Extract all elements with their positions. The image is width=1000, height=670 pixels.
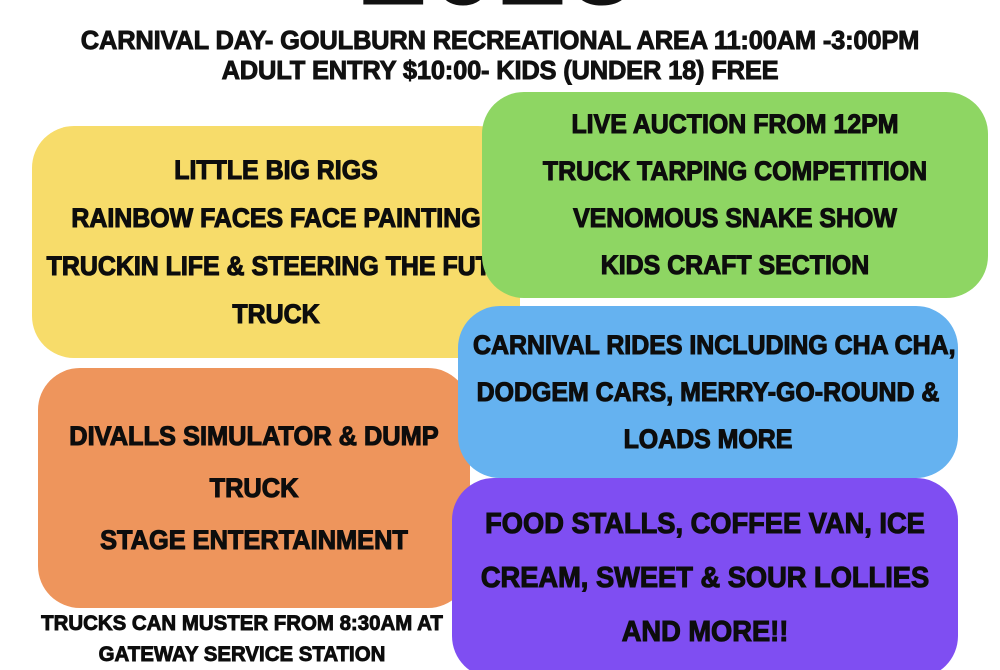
header-block: CARNIVAL DAY- GOULBURN RECREATIONAL AREA… <box>0 26 1000 87</box>
info-line: STAGE ENTERTAINMENT <box>51 514 457 566</box>
info-line: AND MORE!! <box>467 605 943 659</box>
info-line: RAINBOW FACES FACE PAINTING <box>47 194 506 242</box>
info-line: LOADS MORE <box>473 416 943 463</box>
info-line: TRUCK <box>51 462 457 514</box>
info-line: TRUCK <box>47 290 506 338</box>
info-line: TRUCK TARPING COMPETITION <box>497 148 973 195</box>
info-line: CREAM, SWEET & SOUR LOLLIES <box>467 551 943 605</box>
info-line: LIVE AUCTION FROM 12PM <box>497 101 973 148</box>
info-line: TRUCKIN LIFE & STEERING THE FUTURE <box>47 242 506 290</box>
info-line: FOOD STALLS, COFFEE VAN, ICE <box>467 497 943 551</box>
header-line-venue-time: CARNIVAL DAY- GOULBURN RECREATIONAL AREA… <box>0 26 1000 56</box>
info-block-yellow: LITTLE BIG RIGS RAINBOW FACES FACE PAINT… <box>32 126 520 358</box>
poster-canvas: 2025 CARNIVAL DAY- GOULBURN RECREATIONAL… <box>0 0 1000 670</box>
info-line: VENOMOUS SNAKE SHOW <box>497 195 973 242</box>
info-block-purple: FOOD STALLS, COFFEE VAN, ICE CREAM, SWEE… <box>452 478 958 670</box>
info-line: LITTLE BIG RIGS <box>47 146 506 194</box>
footer-line-location: GATEWAY SERVICE STATION <box>33 639 451 670</box>
info-block-blue: CARNIVAL RIDES INCLUDING CHA CHA, DODGEM… <box>458 306 958 478</box>
info-line: DIVALLS SIMULATOR & DUMP <box>51 410 457 462</box>
info-line: KIDS CRAFT SECTION <box>497 242 973 289</box>
footer-line-muster: TRUCKS CAN MUSTER FROM 8:30AM AT <box>33 608 451 639</box>
header-line-entry-price: ADULT ENTRY $10:00- KIDS (UNDER 18) FREE <box>0 56 1000 87</box>
footer-note: TRUCKS CAN MUSTER FROM 8:30AM AT GATEWAY… <box>22 608 462 670</box>
info-line: DODGEM CARS, MERRY-GO-ROUND & <box>473 369 943 416</box>
info-block-orange: DIVALLS SIMULATOR & DUMP TRUCK STAGE ENT… <box>38 368 470 608</box>
year-headline-clip: 2025 <box>0 0 1000 18</box>
year-headline: 2025 <box>0 0 1000 18</box>
info-block-green: LIVE AUCTION FROM 12PM TRUCK TARPING COM… <box>482 92 988 298</box>
info-line: CARNIVAL RIDES INCLUDING CHA CHA, <box>473 322 943 369</box>
